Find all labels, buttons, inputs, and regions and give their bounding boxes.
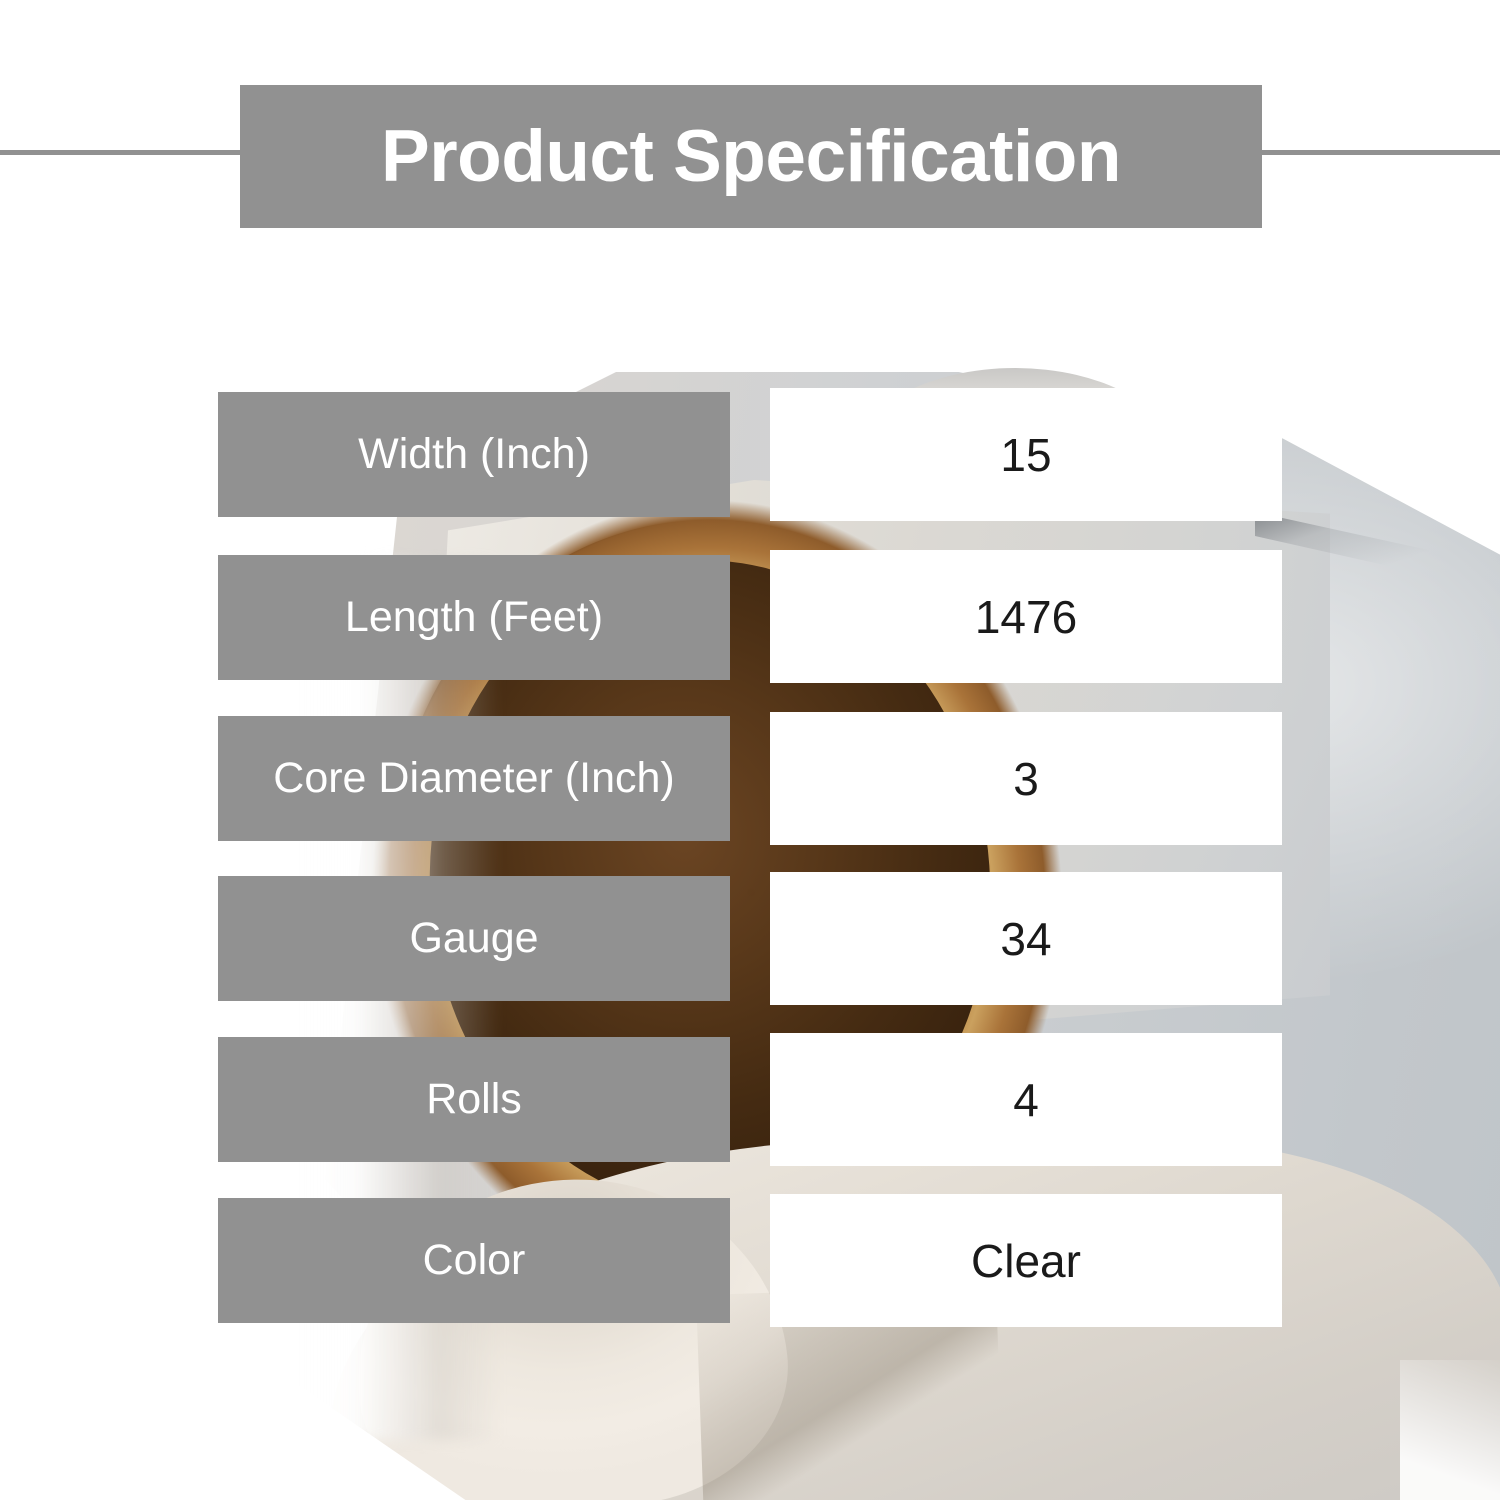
- spec-label-width: Width (Inch): [218, 392, 730, 517]
- spec-value-length: 1476: [770, 550, 1282, 683]
- spec-label-rolls: Rolls: [218, 1037, 730, 1162]
- spec-value-gauge: 34: [770, 872, 1282, 1005]
- spec-label-core-diameter: Core Diameter (Inch): [218, 716, 730, 841]
- spec-value-core-diameter: 3: [770, 712, 1282, 845]
- spec-value-rolls: 4: [770, 1033, 1282, 1166]
- spec-value-width: 15: [770, 388, 1282, 521]
- spec-label-length: Length (Feet): [218, 555, 730, 680]
- specification-table: Width (Inch) 15 Length (Feet) 1476 Core …: [0, 0, 1500, 1500]
- spec-value-color: Clear: [770, 1194, 1282, 1327]
- product-spec-graphic: Product Specification Width (Inch) 15 Le…: [0, 0, 1500, 1500]
- spec-label-color: Color: [218, 1198, 730, 1323]
- spec-label-gauge: Gauge: [218, 876, 730, 1001]
